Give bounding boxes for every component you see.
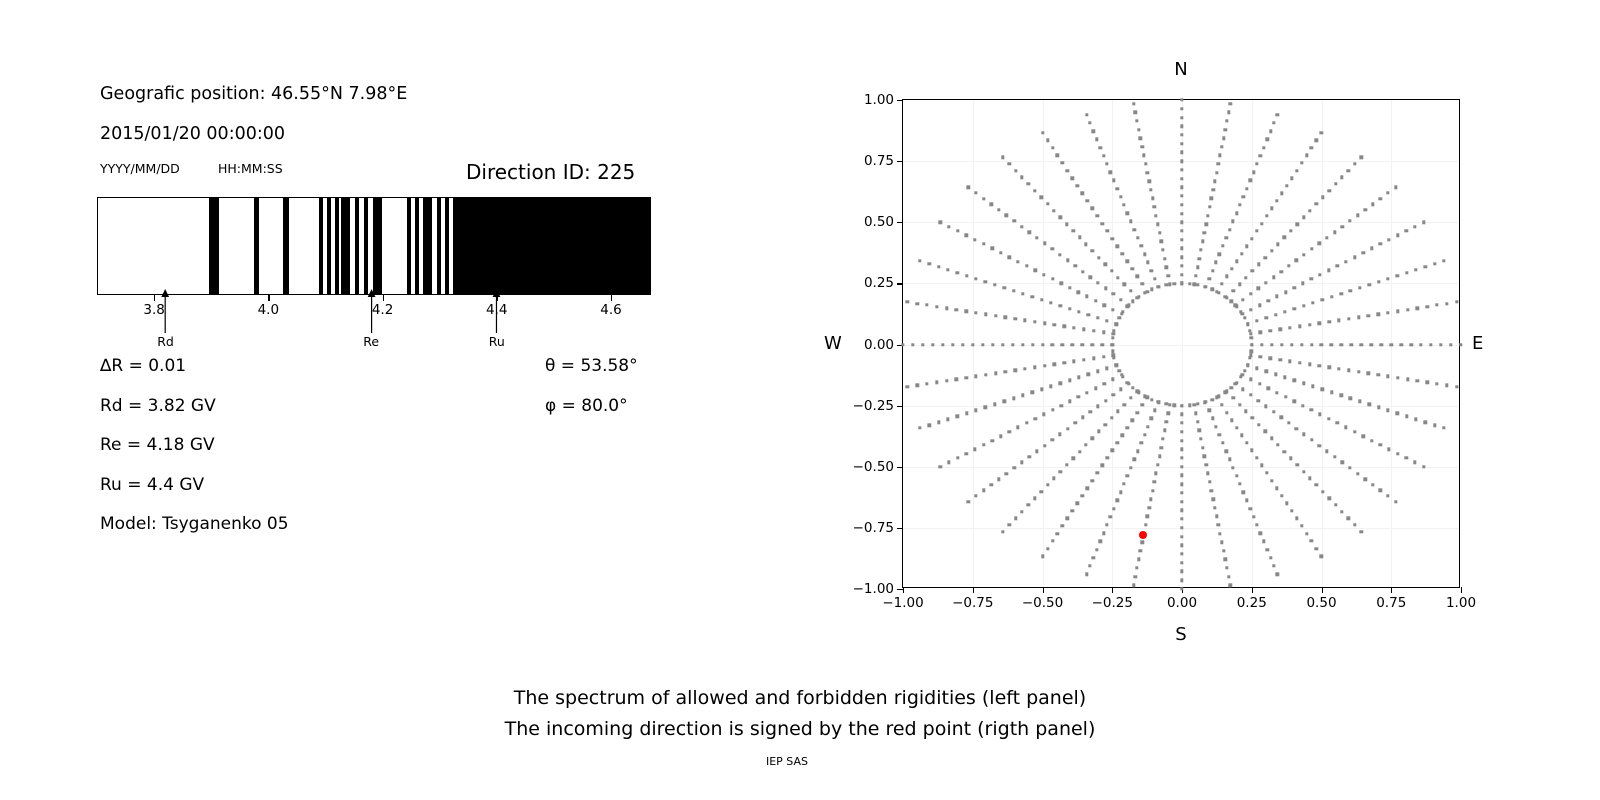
- datetime-label: 2015/01/20 00:00:00: [100, 124, 285, 144]
- direction-point: [1160, 446, 1163, 449]
- direction-point: [1122, 482, 1125, 485]
- direction-point: [1288, 359, 1291, 362]
- direction-point: [1302, 470, 1305, 473]
- direction-point: [1213, 179, 1216, 182]
- direction-point: [1180, 578, 1183, 581]
- direction-point: [1161, 248, 1164, 251]
- direction-point: [1413, 225, 1416, 228]
- direction-point: [1225, 275, 1228, 278]
- direction-point: [1146, 425, 1149, 428]
- direction-point: [974, 408, 977, 411]
- direction-point: [1081, 343, 1084, 346]
- direction-point: [1051, 408, 1054, 411]
- direction-point: [1406, 308, 1409, 311]
- direction-point: [1334, 503, 1337, 506]
- direction-point: [974, 191, 977, 194]
- direction-point: [1284, 395, 1287, 398]
- direction-point: [1246, 364, 1249, 367]
- compass-label-north: N: [1174, 59, 1187, 80]
- direction-point: [1257, 423, 1260, 426]
- direction-point: [1129, 396, 1132, 399]
- direction-point: [1073, 264, 1076, 267]
- direction-point: [1043, 322, 1046, 325]
- direction-point: [1218, 253, 1221, 256]
- direction-point: [1310, 438, 1313, 441]
- direction-point: [1095, 548, 1098, 551]
- direction-point: [1056, 154, 1059, 157]
- direction-point: [1091, 207, 1094, 210]
- direction-point: [1077, 310, 1080, 313]
- direction-point: [1126, 426, 1129, 429]
- direction-point: [1141, 145, 1144, 148]
- direction-point: [1284, 290, 1287, 293]
- direction-point: [1347, 317, 1350, 320]
- direction-point: [1396, 274, 1399, 277]
- direction-point: [1353, 523, 1356, 526]
- forbidden-band: [341, 198, 350, 294]
- direction-point: [1318, 413, 1321, 416]
- compass-label-south: S: [1175, 624, 1186, 645]
- direction-point: [1033, 497, 1036, 500]
- direction-point: [925, 303, 928, 306]
- direction-point: [1180, 535, 1183, 538]
- spectrum-axis-tick: [611, 295, 612, 301]
- direction-point: [1043, 364, 1046, 367]
- direction-point: [1280, 343, 1283, 346]
- direction-point: [1211, 288, 1214, 291]
- direction-point: [1112, 393, 1115, 396]
- param-re: Re = 4.18 GV: [100, 435, 215, 455]
- direction-point: [1084, 443, 1087, 446]
- direction-point: [1042, 413, 1045, 416]
- spectrum-axis-tick-label: 4.0: [258, 302, 279, 318]
- direction-point: [1051, 438, 1054, 441]
- direction-point: [1259, 154, 1262, 157]
- direction-point: [1140, 282, 1143, 285]
- direction-point: [1116, 187, 1119, 190]
- direction-point: [1344, 426, 1347, 429]
- direction-point: [1196, 420, 1199, 423]
- direction-point: [1368, 283, 1371, 286]
- direction-point: [1049, 301, 1052, 304]
- direction-point: [1111, 308, 1114, 311]
- direction-point: [1095, 138, 1098, 141]
- direction-point: [1002, 400, 1005, 403]
- x-axis-tick-label: −1.00: [882, 595, 923, 611]
- direction-point: [1087, 313, 1090, 316]
- direction-point: [1112, 332, 1115, 335]
- direction-point: [1413, 461, 1416, 464]
- direction-point: [1153, 205, 1156, 208]
- direction-point: [1096, 214, 1099, 217]
- direction-point: [1264, 405, 1267, 408]
- y-axis-tick: [897, 406, 903, 407]
- direction-point: [1257, 399, 1260, 402]
- direction-point: [1012, 219, 1015, 222]
- direction-point: [984, 280, 987, 283]
- direction-point: [1295, 427, 1298, 430]
- direction-point: [1063, 361, 1066, 364]
- direction-point: [901, 343, 904, 346]
- direction-point: [1139, 244, 1142, 247]
- direction-point: [1140, 403, 1143, 406]
- direction-point: [1349, 289, 1352, 292]
- direction-point: [1211, 398, 1214, 401]
- direction-point: [1360, 530, 1363, 533]
- direction-point: [1327, 320, 1330, 323]
- direction-point: [1046, 547, 1049, 550]
- direction-point: [984, 405, 987, 408]
- direction-point: [1426, 381, 1429, 384]
- direction-point: [1218, 532, 1221, 535]
- direction-point: [1300, 161, 1303, 164]
- direction-point: [1123, 283, 1126, 286]
- direction-point: [990, 203, 993, 206]
- direction-point: [1250, 343, 1253, 346]
- gridline-horizontal: [903, 345, 1459, 346]
- direction-point: [1252, 515, 1255, 518]
- direction-point: [1221, 441, 1224, 444]
- direction-point: [1255, 523, 1258, 526]
- direction-point: [964, 376, 967, 379]
- spectrum-x-axis: 3.84.04.24.44.6RdReRu: [97, 295, 651, 297]
- direction-point: [1318, 273, 1321, 276]
- direction-point: [1272, 275, 1275, 278]
- direction-point: [1276, 242, 1279, 245]
- direction-point: [1139, 549, 1142, 552]
- direction-point: [1241, 312, 1244, 315]
- direction-point: [1001, 156, 1004, 159]
- direction-point: [1259, 531, 1262, 534]
- direction-point: [1405, 414, 1408, 417]
- forbidden-band: [423, 198, 432, 294]
- y-axis-tick-label: 1.00: [864, 92, 894, 108]
- direction-point: [1377, 312, 1380, 315]
- direction-point: [1060, 282, 1063, 285]
- direction-point: [1278, 328, 1281, 331]
- direction-point: [1109, 515, 1112, 518]
- direction-point: [1285, 184, 1288, 187]
- direction-point: [982, 197, 985, 200]
- direction-point: [1139, 136, 1142, 139]
- direction-point: [1180, 255, 1183, 258]
- direction-point: [1180, 587, 1183, 590]
- direction-point: [1230, 386, 1233, 389]
- spectrum-axis-tick: [383, 295, 384, 301]
- direction-point: [1270, 249, 1273, 252]
- spectrum-axis-tick: [154, 295, 155, 301]
- direction-point: [1387, 238, 1390, 241]
- x-axis-tick-label: −0.25: [1092, 595, 1133, 611]
- direction-point: [1016, 260, 1019, 263]
- direction-point: [1161, 437, 1164, 440]
- direction-point: [1242, 195, 1245, 198]
- direction-point: [1360, 343, 1363, 346]
- direction-point: [1230, 418, 1233, 421]
- param-delta-r: ∆R = 0.01: [100, 356, 186, 376]
- direction-point: [1262, 540, 1265, 543]
- direction-point: [1238, 482, 1241, 485]
- direction-point: [1133, 228, 1136, 231]
- direction-point: [1071, 343, 1074, 346]
- direction-point: [946, 268, 949, 271]
- direction-point: [1051, 277, 1054, 280]
- direction-point: [984, 312, 987, 315]
- direction-point: [1180, 98, 1183, 101]
- direction-point: [1249, 292, 1252, 295]
- direction-point: [1265, 370, 1268, 373]
- direction-point: [1086, 199, 1089, 202]
- direction-point: [1059, 304, 1062, 307]
- direction-point: [1007, 523, 1010, 526]
- direction-point: [1135, 566, 1138, 569]
- direction-point: [1232, 289, 1235, 292]
- direction-point: [1116, 499, 1119, 502]
- direction-point: [1106, 229, 1109, 232]
- direction-point: [967, 186, 970, 189]
- param-rd: Rd = 3.82 GV: [100, 396, 216, 416]
- direction-point: [1445, 384, 1448, 387]
- direction-point: [1238, 403, 1241, 406]
- spectrum-annotation-label: Ru: [489, 334, 505, 349]
- direction-point: [1076, 502, 1079, 505]
- direction-point: [1240, 252, 1243, 255]
- direction-point: [1422, 465, 1425, 468]
- direction-point: [1396, 376, 1399, 379]
- direction-point: [1051, 247, 1054, 250]
- caption-line-2: The incoming direction is signed by the …: [505, 718, 1096, 740]
- direction-point: [1052, 209, 1055, 212]
- direction-point: [1230, 300, 1233, 303]
- direction-point: [1020, 176, 1023, 179]
- direction-point: [1165, 265, 1168, 268]
- direction-point: [931, 343, 934, 346]
- direction-point: [1380, 343, 1383, 346]
- direction-point: [1150, 398, 1153, 401]
- direction-point: [1211, 417, 1214, 420]
- direction-point: [1005, 472, 1008, 475]
- direction-point: [1201, 446, 1204, 449]
- direction-point: [1046, 483, 1049, 486]
- direction-point: [1370, 247, 1373, 250]
- direction-point: [1424, 265, 1427, 268]
- direction-point: [1283, 450, 1286, 453]
- direction-point: [1459, 343, 1462, 346]
- direction-point: [1053, 363, 1056, 366]
- direction-point: [1290, 509, 1293, 512]
- direction-point: [1081, 494, 1084, 497]
- direction-point: [1129, 289, 1132, 292]
- direction-point: [1220, 541, 1223, 544]
- direction-point: [997, 477, 1000, 480]
- direction-point: [1305, 154, 1308, 157]
- direction-point: [1249, 353, 1252, 356]
- direction-point: [1056, 532, 1059, 535]
- direction-point: [1356, 472, 1359, 475]
- direction-point: [1394, 186, 1397, 189]
- direction-point: [1269, 130, 1272, 133]
- direction-point: [955, 378, 958, 381]
- direction-point: [1115, 322, 1118, 325]
- up-arrow-icon: [491, 289, 502, 333]
- direction-point: [1129, 466, 1132, 469]
- direction-point: [1101, 222, 1104, 225]
- direction-point: [1180, 439, 1183, 442]
- y-axis-tick-label: −0.75: [853, 520, 894, 536]
- x-axis-tick: [973, 587, 974, 593]
- direction-point: [1260, 464, 1263, 467]
- direction-point: [1016, 426, 1019, 429]
- direction-point: [935, 381, 938, 384]
- direction-point: [1156, 463, 1159, 466]
- x-axis-tick: [1252, 587, 1253, 593]
- direction-point: [1210, 197, 1213, 200]
- direction-point: [1272, 410, 1275, 413]
- direction-point: [1280, 270, 1283, 273]
- direction-point: [1285, 502, 1288, 505]
- direction-point: [1361, 434, 1364, 437]
- direction-point: [1429, 343, 1432, 346]
- direction-point: [1119, 298, 1122, 301]
- direction-point: [1063, 325, 1066, 328]
- x-axis-tick-label: 0.00: [1167, 595, 1197, 611]
- direction-point: [984, 373, 987, 376]
- direction-point: [1065, 222, 1068, 225]
- direction-point: [1280, 494, 1283, 497]
- direction-point: [1424, 420, 1427, 423]
- direction-point: [1245, 187, 1248, 190]
- direction-point: [967, 500, 970, 503]
- direction-point: [982, 242, 985, 245]
- direction-point: [1330, 295, 1333, 298]
- direction-point: [1096, 316, 1099, 319]
- direction-point: [1081, 270, 1084, 273]
- direction-point: [1121, 252, 1124, 255]
- direction-point: [1144, 162, 1147, 165]
- direction-point: [1267, 386, 1270, 389]
- direction-point: [1066, 259, 1069, 262]
- direction-point: [1358, 400, 1361, 403]
- direction-point: [1435, 303, 1438, 306]
- direction-point: [1180, 430, 1183, 433]
- direction-point: [1154, 214, 1157, 217]
- direction-point: [1300, 524, 1303, 527]
- direction-point: [928, 423, 931, 426]
- direction-point: [1225, 449, 1228, 452]
- direction-point: [1091, 249, 1094, 252]
- direction-point: [1061, 161, 1064, 164]
- direction-point: [1117, 369, 1120, 372]
- direction-point: [1215, 171, 1218, 174]
- spectrum-axis-tick-label: 4.6: [600, 302, 621, 318]
- direction-point: [1180, 456, 1183, 459]
- spectrum-axis-tick: [268, 295, 269, 301]
- direction-point: [1194, 274, 1197, 277]
- direction-point: [1296, 463, 1299, 466]
- direction-point: [1180, 517, 1183, 520]
- direction-point: [1121, 434, 1124, 437]
- direction-point: [1180, 448, 1183, 451]
- direction-point: [1072, 326, 1075, 329]
- direction-point: [1208, 277, 1211, 280]
- direction-point: [1302, 433, 1305, 436]
- direction-point: [1092, 130, 1095, 133]
- direction-point: [1257, 287, 1260, 290]
- direction-point: [993, 403, 996, 406]
- direction-point: [1089, 410, 1092, 413]
- direction-point: [1145, 396, 1148, 399]
- forbidden-band: [355, 198, 359, 294]
- direction-point: [1025, 264, 1028, 267]
- direction-point: [1035, 236, 1038, 239]
- direction-point: [1071, 229, 1074, 232]
- direction-point: [1250, 449, 1253, 452]
- caption-line-1: The spectrum of allowed and forbidden ri…: [514, 687, 1086, 709]
- direction-point: [1014, 369, 1017, 372]
- direction-point: [991, 343, 994, 346]
- direction-point: [1158, 455, 1161, 458]
- direction-point: [1361, 251, 1364, 254]
- direction-point: [1151, 197, 1154, 200]
- direction-point: [1336, 421, 1339, 424]
- direction-point: [1298, 361, 1301, 364]
- direction-point: [1283, 376, 1286, 379]
- direction-point: [1255, 162, 1258, 165]
- direction-point: [1347, 517, 1350, 520]
- direction-point: [1180, 194, 1183, 197]
- direction-point: [937, 420, 940, 423]
- spectrum-annotation-ru: Ru: [489, 289, 505, 349]
- direction-point: [1201, 240, 1204, 243]
- direction-point: [1290, 343, 1293, 346]
- direction-point: [1180, 116, 1183, 119]
- direction-point: [1386, 408, 1389, 411]
- direction-point: [1396, 309, 1399, 312]
- direction-point: [1111, 237, 1114, 240]
- direction-point: [1416, 306, 1419, 309]
- direction-point: [1449, 343, 1452, 346]
- direction-point: [1072, 359, 1075, 362]
- direction-point: [1302, 216, 1305, 219]
- direction-point: [1051, 343, 1054, 346]
- direction-map-panel: −1.00−1.00−0.75−0.75−0.50−0.50−0.25−0.25…: [800, 0, 1600, 800]
- direction-point: [1058, 253, 1061, 256]
- direction-point: [1249, 378, 1252, 381]
- forbidden-band: [335, 198, 339, 294]
- direction-point: [1262, 146, 1265, 149]
- direction-point: [1020, 461, 1023, 464]
- direction-point: [1321, 196, 1324, 199]
- direction-point: [1367, 314, 1370, 317]
- direction-point: [1238, 283, 1241, 286]
- direction-point: [1337, 319, 1340, 322]
- direction-point: [1360, 156, 1363, 159]
- direction-point: [1025, 421, 1028, 424]
- direction-point: [1243, 369, 1246, 372]
- direction-point: [1043, 242, 1046, 245]
- direction-point: [1198, 429, 1201, 432]
- direction-point: [1230, 267, 1233, 270]
- direction-point: [1289, 229, 1292, 232]
- direction-point: [1119, 388, 1122, 391]
- direction-point: [1255, 319, 1258, 322]
- direction-point: [1180, 544, 1183, 547]
- direction-point: [1353, 255, 1356, 258]
- direction-point: [1265, 214, 1268, 217]
- direction-point: [1344, 260, 1347, 263]
- direction-point: [1217, 523, 1220, 526]
- direction-point: [1141, 541, 1144, 544]
